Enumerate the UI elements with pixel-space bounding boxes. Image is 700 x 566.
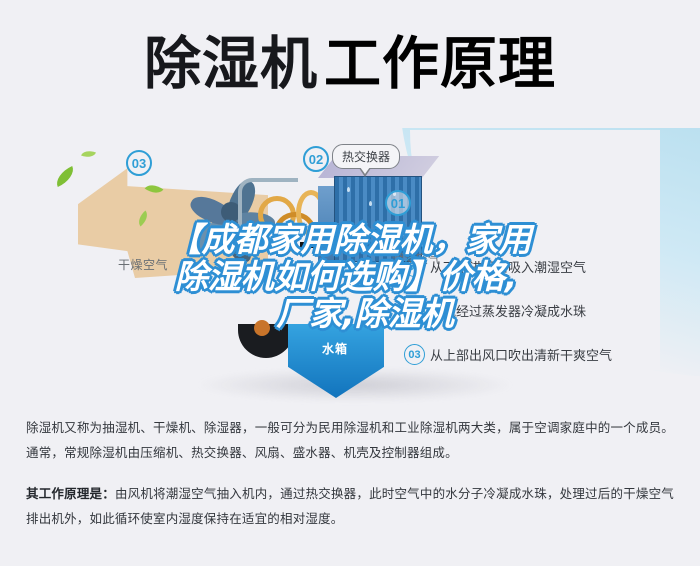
diagram-badge-03: 03 <box>126 150 152 176</box>
water-tank-label: 水箱 <box>322 340 348 357</box>
bowl-accent-dot <box>254 320 270 336</box>
water-droplet-icon <box>401 231 404 236</box>
water-droplet-icon <box>381 245 384 250</box>
airflow-swoosh-cutout <box>410 130 660 370</box>
legend-text-03: 从上部出风口吹出清新干爽空气 <box>430 348 612 363</box>
heat-exchanger-callout: 热交换器 <box>332 144 400 169</box>
paragraph-principle-lead: 其工作原理是： <box>26 487 115 501</box>
leaf-icon <box>81 148 96 160</box>
legend-item-01: 01从下部进风口吸入潮湿空气 <box>404 256 696 277</box>
water-droplet-icon <box>343 243 346 248</box>
diagram-badge-01: 01 <box>385 190 411 216</box>
water-droplet-icon <box>357 223 360 228</box>
legend-item-02: 02空气经过蒸发器冷凝成水珠 <box>404 300 696 321</box>
dehumidifier-infographic-page: 除湿机工作原理 干燥空气 <box>0 0 700 566</box>
legend-text-02: 空气经过蒸发器冷凝成水珠 <box>430 304 586 319</box>
legend-item-03: 03从上部出风口吹出清新干爽空气 <box>404 344 696 365</box>
title-part-principle: 工作原理 <box>324 31 556 97</box>
article-body: 除湿机又称为抽湿机、干燥机、除湿器，一般可分为民用除湿机和工业除湿机两大类，属于… <box>0 416 700 532</box>
dry-air-label: 干燥空气 <box>118 256 168 273</box>
water-droplet-icon <box>347 187 350 192</box>
title-part-product: 除湿机 <box>144 31 318 97</box>
paragraph-principle: 其工作原理是：由风机将潮湿空气抽入机内，通过热交换器，此时空气中的水分子冷凝成水… <box>26 482 674 532</box>
diagram-badge-02: 02 <box>303 146 329 172</box>
legend-badge-02: 02 <box>404 300 425 321</box>
legend-text-01: 从下部进风口吸入潮湿空气 <box>430 260 586 275</box>
title-text: 除湿机工作原理 <box>144 36 556 93</box>
working-principle-diagram: 干燥空气 <box>0 128 700 408</box>
page-title: 除湿机工作原理 <box>0 0 700 128</box>
legend-badge-01: 01 <box>404 256 425 277</box>
paragraph-definition: 除湿机又称为抽湿机、干燥机、除湿器，一般可分为民用除湿机和工业除湿机两大类，属于… <box>26 416 674 466</box>
water-droplet-icon <box>369 201 372 206</box>
paragraph-principle-rest: 由风机将潮湿空气抽入机内，通过热交换器，此时空气中的水分子冷凝成水珠，处理过后的… <box>26 487 674 526</box>
leaf-icon <box>52 166 77 187</box>
legend-badge-03: 03 <box>404 344 425 365</box>
